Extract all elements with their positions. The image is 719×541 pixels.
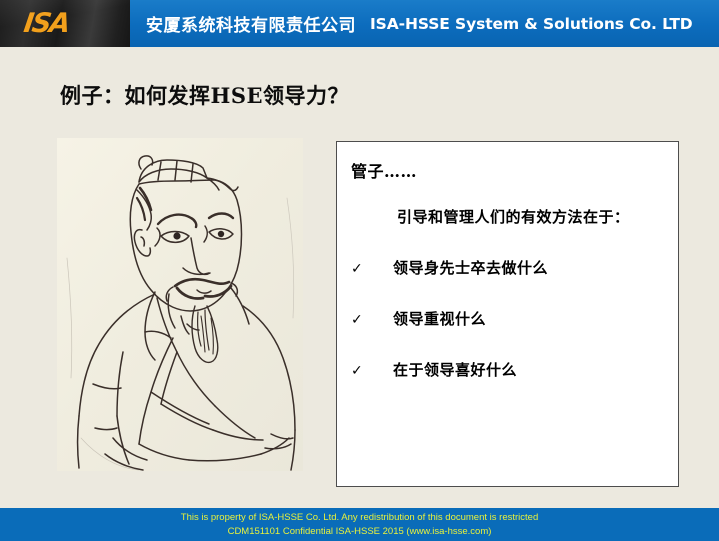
footer-copyright-line: This is property of ISA-HSSE Co. Ltd. An… — [181, 511, 538, 525]
quote-subheading: 引导和管理人们的有效方法在于： — [397, 206, 664, 227]
check-icon: ✓ — [351, 364, 393, 378]
footer-document-line: CDM151101 Confidential ISA-HSSE 2015 (ww… — [228, 525, 492, 539]
check-icon: ✓ — [351, 262, 393, 276]
company-name-en: ISA-HSSE System & Solutions Co. LTD — [370, 15, 693, 33]
list-item: ✓ 领导重视什么 — [351, 308, 664, 329]
list-item-label: 在于领导喜好什么 — [393, 359, 517, 380]
quote-text-box: 管子…… 引导和管理人们的有效方法在于： ✓ 领导身先士卒去做什么 ✓ 领导重视… — [336, 141, 679, 487]
footer-bar: This is property of ISA-HSSE Co. Ltd. An… — [0, 508, 719, 541]
company-name-cn: 安厦系统科技有限责任公司 — [146, 11, 356, 36]
isa-logo: ISA — [22, 9, 70, 38]
list-item-label: 领导身先士卒去做什么 — [393, 257, 548, 278]
slide-content-area: 例子：如何发挥HSE领导力？ — [0, 47, 719, 508]
header-bar: ISA 安厦系统科技有限责任公司 ISA-HSSE System & Solut… — [0, 0, 719, 47]
list-item: ✓ 在于领导喜好什么 — [351, 359, 664, 380]
guanzi-portrait-image — [57, 138, 303, 471]
page-title: 例子：如何发挥HSE领导力？ — [60, 80, 349, 110]
quote-bullet-list: ✓ 领导身先士卒去做什么 ✓ 领导重视什么 ✓ 在于领导喜好什么 — [351, 257, 664, 380]
list-item-label: 领导重视什么 — [393, 308, 486, 329]
list-item: ✓ 领导身先士卒去做什么 — [351, 257, 664, 278]
portrait-line-drawing — [57, 138, 303, 471]
check-icon: ✓ — [351, 313, 393, 327]
logo-panel: ISA — [0, 0, 130, 47]
quote-heading: 管子…… — [351, 158, 664, 182]
header-title-panel: 安厦系统科技有限责任公司 ISA-HSSE System & Solutions… — [130, 0, 719, 47]
